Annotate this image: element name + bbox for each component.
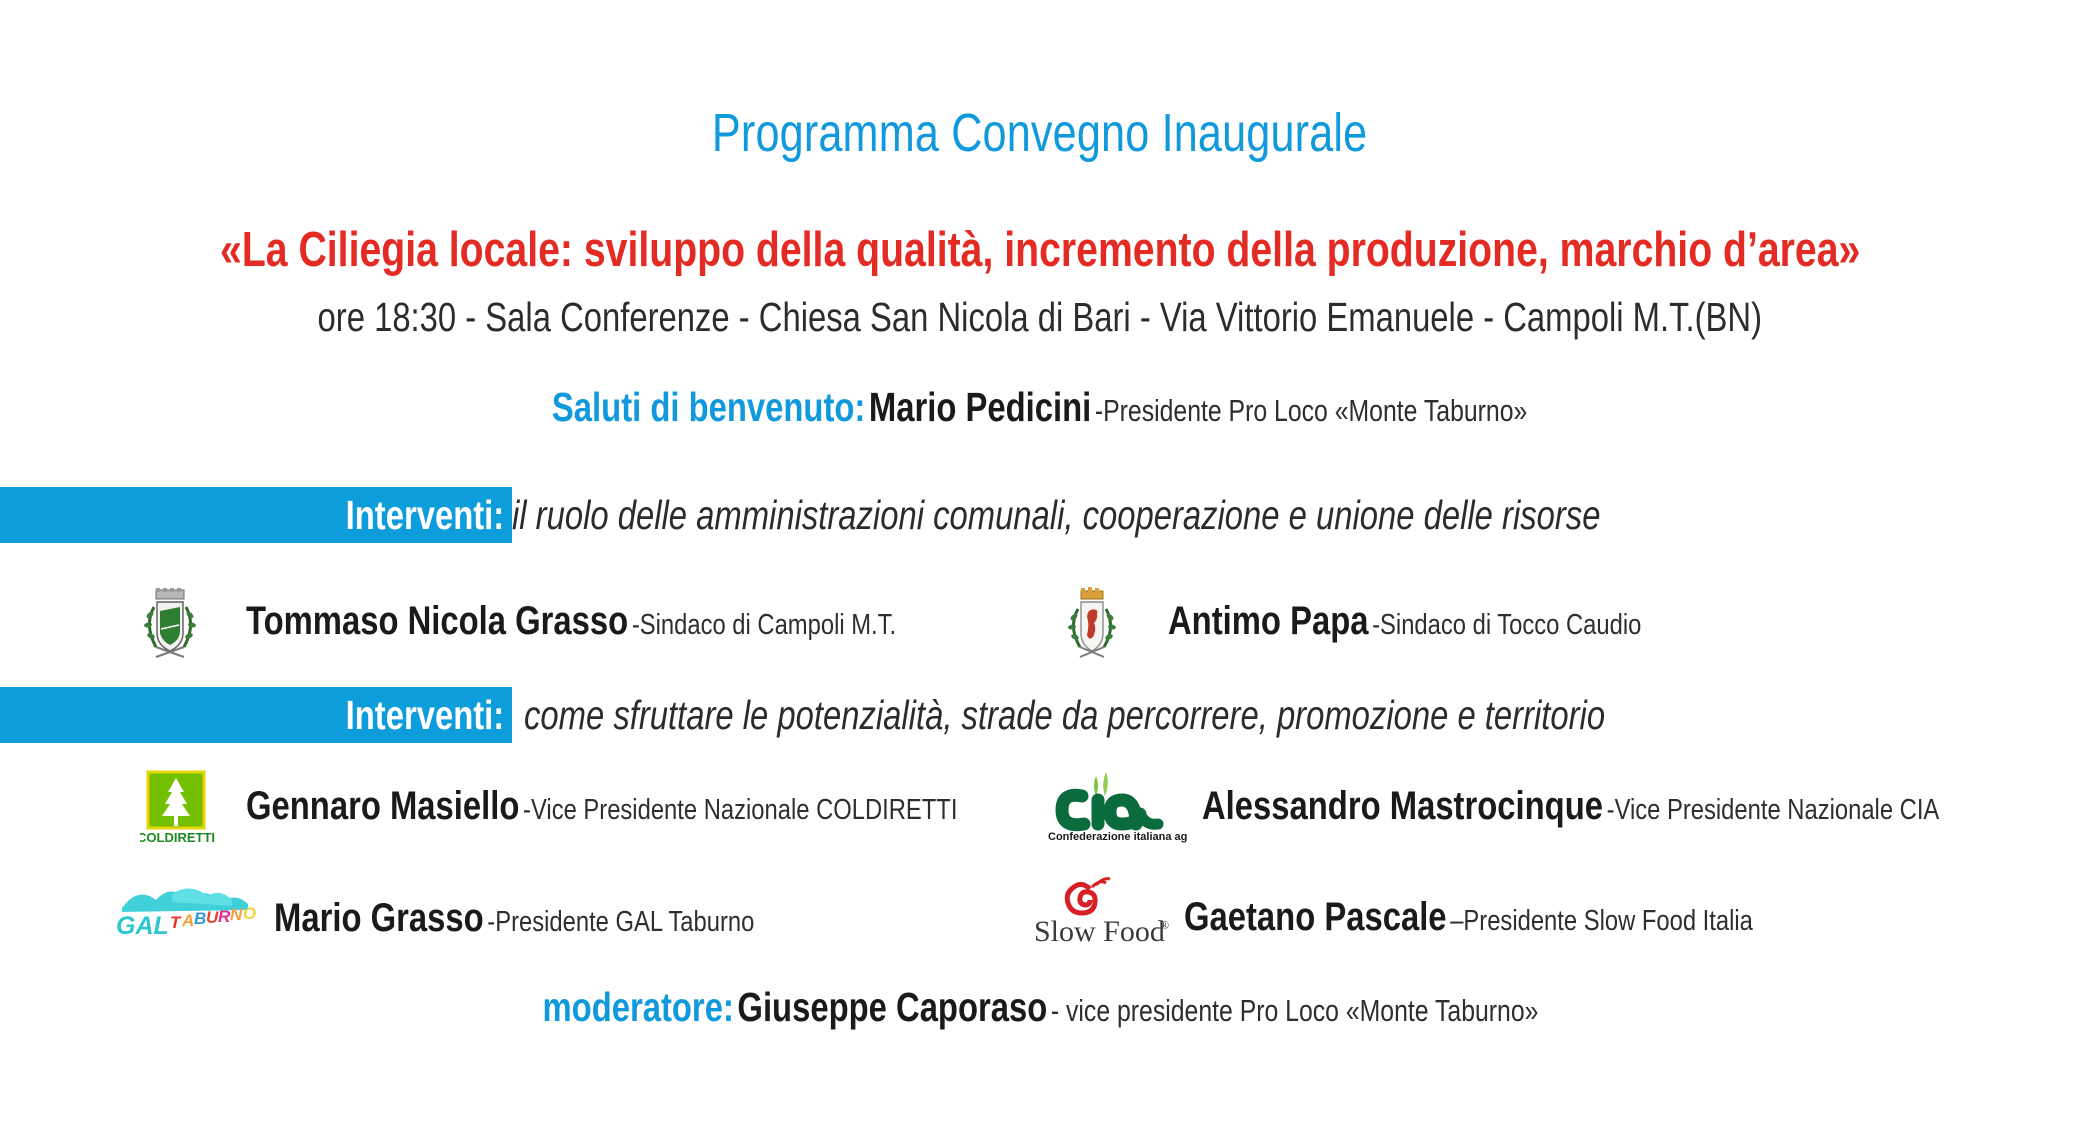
speaker-row-mario-grasso: GAL T A B U R N O Mario Grasso -Presiden… — [112, 882, 860, 954]
welcome-greeting-inner: Saluti di benvenuto: Mario Pedicini -Pre… — [552, 384, 1527, 431]
campoli-coat-of-arms-icon — [140, 585, 232, 657]
speaker-text-antimo-papa: Antimo Papa -Sindaco di Tocco Caudio — [1168, 599, 1641, 644]
coldiretti-wordmark: COLDIRETTI — [140, 830, 215, 845]
welcome-greeting-row: Saluti di benvenuto: Mario Pedicini -Pre… — [0, 384, 2080, 431]
welcome-label: Saluti di benvenuto: — [552, 384, 865, 430]
speaker-text-alessandro-mastrocinque: Alessandro Mastrocinque -Vice Presidente… — [1202, 784, 1939, 829]
svg-text:N: N — [230, 905, 243, 924]
cia-tagline: Confederazione italiana agricoltori — [1048, 831, 1188, 843]
speaker-name: Mario Grasso — [274, 896, 484, 940]
speaker-name: Alessandro Mastrocinque — [1202, 784, 1603, 828]
speaker-role: -Sindaco di Campoli M.T. — [632, 609, 896, 641]
speaker-name: Antimo Papa — [1168, 599, 1368, 643]
svg-text:A: A — [181, 911, 194, 930]
speaker-role: -Vice Presidente Nazionale COLDIRETTI — [523, 794, 957, 826]
event-venue-line: ore 18:30 - Sala Conferenze - Chiesa San… — [0, 294, 2080, 341]
interventi-description-1-wrap: il ruolo delle amministrazioni comunali,… — [512, 487, 1873, 543]
welcome-speaker-role: -Presidente Pro Loco «Monte Taburno» — [1095, 393, 1527, 428]
cia-logo-icon: Confederazione italiana agricoltori — [1040, 770, 1188, 842]
moderator-name: Giuseppe Caporaso — [737, 984, 1047, 1030]
svg-text:B: B — [194, 909, 206, 928]
event-headline: «La Ciliegia locale: sviluppo della qual… — [0, 222, 2080, 278]
interventi-description-2-wrap: come sfruttare le potenzialità, strade d… — [524, 687, 1875, 743]
interventi-section-1-header: Interventi: il ruolo delle amministrazio… — [0, 487, 2080, 543]
speaker-text-tommaso-nicola-grasso: Tommaso Nicola Grasso -Sindaco di Campol… — [246, 599, 896, 644]
speaker-role: -Sindaco di Tocco Caudio — [1372, 609, 1641, 641]
registered-trademark-icon: ® — [1160, 918, 1169, 932]
speaker-text-gennaro-masiello: Gennaro Masiello -Vice Presidente Nazion… — [246, 784, 957, 829]
interventi-section-2-header: Interventi: come sfruttare le potenziali… — [0, 687, 2080, 743]
moderator-inner: moderatore: Giuseppe Caporaso - vice pre… — [542, 984, 1538, 1031]
interventi-label-bar-1: Interventi: — [0, 487, 512, 543]
page-title: Programma Convegno Inaugurale — [0, 102, 2080, 164]
interventi-label-2: Interventi: — [345, 687, 504, 743]
speaker-text-gaetano-pascale: Gaetano Pascale –Presidente Slow Food It… — [1184, 895, 1753, 940]
speaker-name: Gennaro Masiello — [246, 784, 519, 828]
page-title-text: Programma Convegno Inaugurale — [712, 102, 1367, 164]
svg-text:O: O — [243, 904, 256, 923]
speaker-row-alessandro-mastrocinque: Confederazione italiana agricoltori Ales… — [1040, 770, 2080, 842]
event-headline-text: «La Ciliegia locale: sviluppo della qual… — [220, 222, 1860, 278]
slow-food-wordmark: Slow Food — [1034, 915, 1165, 948]
speaker-role: -Presidente GAL Taburno — [487, 906, 754, 938]
speaker-name: Gaetano Pascale — [1184, 895, 1447, 939]
svg-text:T: T — [170, 913, 182, 932]
coldiretti-logo-icon: COLDIRETTI — [140, 770, 232, 842]
interventi-label-1: Interventi: — [345, 487, 504, 543]
slow-food-logo-icon: Slow Food ® — [1032, 875, 1170, 959]
welcome-speaker-name: Mario Pedicini — [869, 384, 1091, 430]
speaker-role: –Presidente Slow Food Italia — [1450, 905, 1753, 937]
event-venue-text: ore 18:30 - Sala Conferenze - Chiesa San… — [318, 294, 1762, 341]
gal-wordmark: GAL — [116, 912, 169, 940]
speaker-row-tommaso-nicola-grasso: Tommaso Nicola Grasso -Sindaco di Campol… — [140, 585, 1039, 657]
moderator-row: moderatore: Giuseppe Caporaso - vice pre… — [0, 984, 2080, 1031]
gal-taburno-logo-icon: GAL T A B U R N O — [112, 882, 260, 954]
speaker-row-gennaro-masiello: COLDIRETTI Gennaro Masiello -Vice Presid… — [140, 770, 1114, 842]
speaker-row-gaetano-pascale: Slow Food ® Gaetano Pascale –Presidente … — [1032, 875, 1878, 959]
speaker-row-antimo-papa: Antimo Papa -Sindaco di Tocco Caudio — [1062, 585, 1745, 657]
interventi-description-1: il ruolo delle amministrazioni comunali,… — [512, 487, 1600, 543]
speaker-text-mario-grasso: Mario Grasso -Presidente GAL Taburno — [274, 896, 754, 941]
interventi-label-bar-2: Interventi: — [0, 687, 512, 743]
moderator-role: - vice presidente Pro Loco «Monte Taburn… — [1050, 993, 1538, 1028]
tocco-caudio-coat-of-arms-icon — [1062, 585, 1154, 657]
speaker-name: Tommaso Nicola Grasso — [246, 599, 628, 643]
speaker-role: -Vice Presidente Nazionale CIA — [1607, 794, 1940, 826]
poster-canvas: Programma Convegno Inaugurale «La Cilieg… — [0, 0, 2080, 1135]
interventi-description-2: come sfruttare le potenzialità, strade d… — [524, 687, 1605, 743]
moderator-label: moderatore: — [542, 984, 733, 1030]
